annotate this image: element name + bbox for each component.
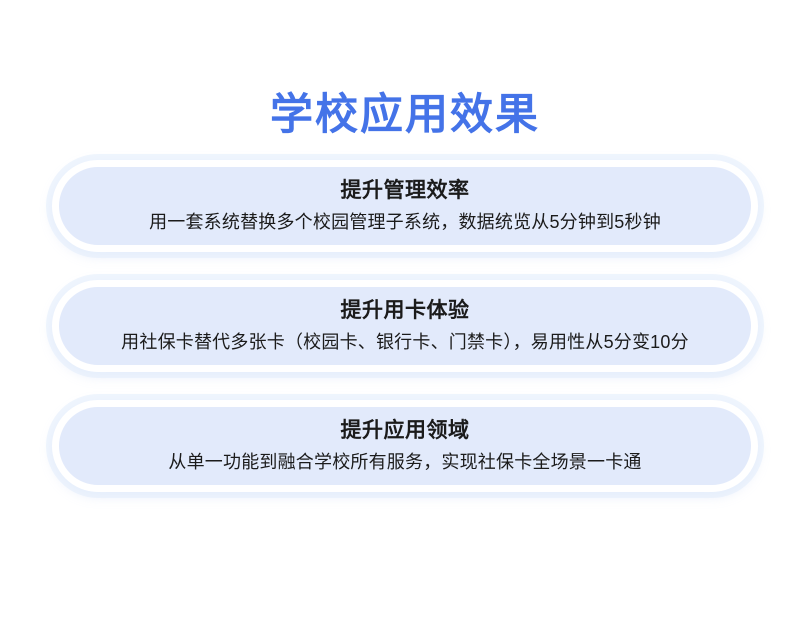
- benefit-card-title: 提升用卡体验: [341, 297, 470, 325]
- benefit-card-description: 用一套系统替换多个校园管理子系统，数据统览从5分钟到5秒钟: [149, 209, 661, 235]
- benefit-card-description: 用社保卡替代多张卡（校园卡、银行卡、门禁卡），易用性从5分变10分: [121, 329, 689, 355]
- benefit-card-title: 提升应用领域: [341, 417, 470, 445]
- infographic-page: 学校应用效果 提升管理效率 用一套系统替换多个校园管理子系统，数据统览从5分钟到…: [0, 0, 810, 622]
- benefit-card-description: 从单一功能到融合学校所有服务，实现社保卡全场景一卡通: [168, 449, 641, 475]
- benefit-card-title: 提升管理效率: [341, 177, 470, 205]
- page-title: 学校应用效果: [0, 87, 810, 143]
- benefit-card: 提升用卡体验 用社保卡替代多张卡（校园卡、银行卡、门禁卡），易用性从5分变10分: [52, 280, 758, 372]
- benefit-card: 提升应用领域 从单一功能到融合学校所有服务，实现社保卡全场景一卡通: [52, 400, 758, 492]
- benefit-card-list: 提升管理效率 用一套系统替换多个校园管理子系统，数据统览从5分钟到5秒钟 提升用…: [52, 160, 758, 492]
- benefit-card: 提升管理效率 用一套系统替换多个校园管理子系统，数据统览从5分钟到5秒钟: [52, 160, 758, 252]
